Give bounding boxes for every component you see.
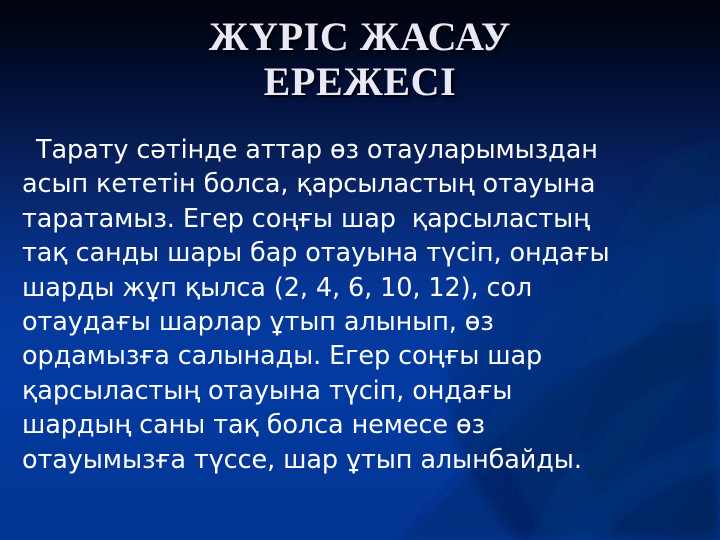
body-line-4: тақ санды шары бар отауына түсіп, ондағы	[22, 236, 694, 270]
body-line-10: отауымызға түссе, шар ұтып алынбайды.	[22, 443, 694, 477]
body-line-1: Тарату сәтінде аттар өз отауларымыздан	[22, 133, 694, 167]
body-line-7: ордамызға салынады. Егер соңғы шар	[22, 339, 694, 373]
body-line-8: қарсыластың отауына түсіп, ондағы	[22, 374, 694, 408]
slide-body-text: Тарату сәтінде аттар өз отауларымыздан а…	[22, 133, 694, 477]
body-line-5: шарды жұп қылса (2, 4, 6, 10, 12), сол	[22, 271, 694, 305]
presentation-slide: ЖҮРІС ЖАСАУ ЕРЕЖЕСІ Тарату сәтінде аттар…	[0, 0, 720, 540]
body-line-9: шардың саны тақ болса немесе өз	[22, 408, 694, 442]
body-line-3: таратамыз. Егер соңғы шар қарсыластың	[22, 202, 694, 236]
slide-title: ЖҮРІС ЖАСАУ ЕРЕЖЕСІ	[0, 14, 720, 104]
body-line-2: асып кететін болса, қарсыластың отауына	[22, 167, 694, 201]
title-line-2: ЕРЕЖЕСІ	[0, 59, 720, 104]
body-line-6: отаудағы шарлар ұтып алынып, өз	[22, 305, 694, 339]
title-line-1: ЖҮРІС ЖАСАУ	[0, 14, 720, 59]
